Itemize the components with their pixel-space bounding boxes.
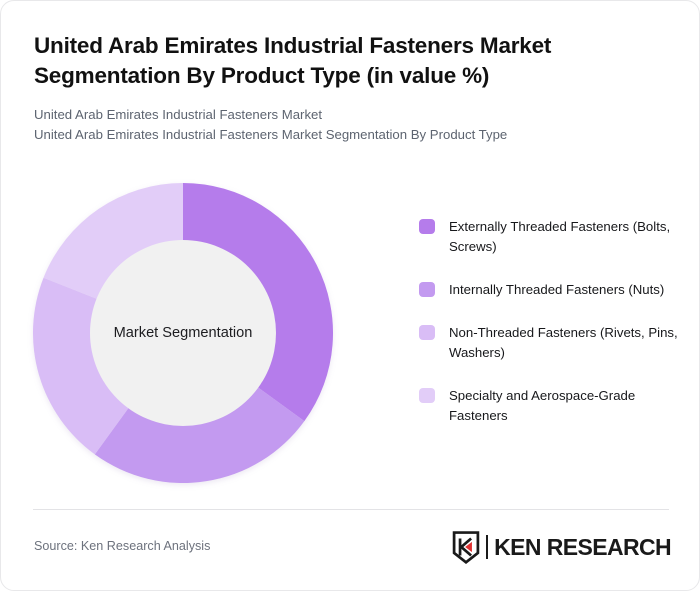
logo-separator xyxy=(486,535,488,559)
legend-item-label: Internally Threaded Fasteners (Nuts) xyxy=(449,280,664,300)
subtitle-group: United Arab Emirates Industrial Fastener… xyxy=(34,105,654,146)
chart-area: Market Segmentation Externally Threaded … xyxy=(1,169,700,499)
legend-item-label: Externally Threaded Fasteners (Bolts, Sc… xyxy=(449,217,681,257)
source-note: Source: Ken Research Analysis xyxy=(34,539,210,553)
legend-item[interactable]: Externally Threaded Fasteners (Bolts, Sc… xyxy=(419,217,681,257)
donut-chart: Market Segmentation xyxy=(33,183,333,483)
ken-research-logo: KEN RESEARCH xyxy=(449,530,671,564)
chart-legend: Externally Threaded Fasteners (Bolts, Sc… xyxy=(419,217,681,426)
legend-swatch-icon xyxy=(419,219,435,234)
chart-card: United Arab Emirates Industrial Fastener… xyxy=(0,0,700,591)
legend-swatch-icon xyxy=(419,325,435,340)
card-footer: Source: Ken Research Analysis KEN RESEAR… xyxy=(1,521,700,581)
footer-divider xyxy=(33,509,669,510)
subtitle-line-2: United Arab Emirates Industrial Fastener… xyxy=(34,125,654,145)
legend-item-label: Non-Threaded Fasteners (Rivets, Pins, Wa… xyxy=(449,323,681,363)
donut-chart-svg xyxy=(33,183,333,483)
donut-hole xyxy=(90,240,276,426)
legend-swatch-icon xyxy=(419,388,435,403)
page-title: United Arab Emirates Industrial Fastener… xyxy=(34,31,654,91)
subtitle-line-1: United Arab Emirates Industrial Fastener… xyxy=(34,105,654,125)
legend-item-label: Specialty and Aerospace-Grade Fasteners xyxy=(449,386,681,426)
legend-item[interactable]: Specialty and Aerospace-Grade Fasteners xyxy=(419,386,681,426)
card-header: United Arab Emirates Industrial Fastener… xyxy=(34,31,654,146)
legend-swatch-icon xyxy=(419,282,435,297)
ken-research-mark-icon xyxy=(449,530,483,564)
legend-item[interactable]: Internally Threaded Fasteners (Nuts) xyxy=(419,280,681,300)
brand-name: KEN RESEARCH xyxy=(494,534,671,561)
legend-item[interactable]: Non-Threaded Fasteners (Rivets, Pins, Wa… xyxy=(419,323,681,363)
